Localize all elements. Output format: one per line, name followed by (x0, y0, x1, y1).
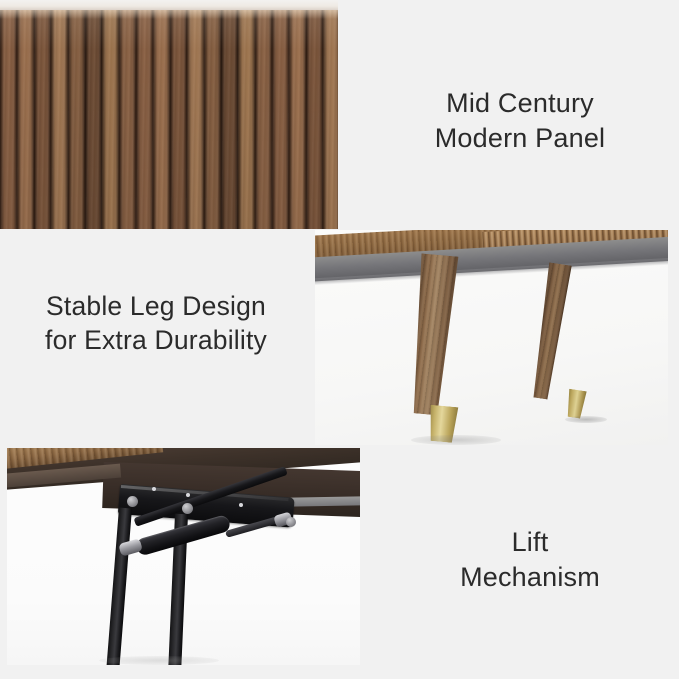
bracket-bolt-3 (286, 517, 296, 527)
rear-tapered-leg (527, 262, 574, 400)
bracket-screw-3 (239, 503, 243, 507)
infographic-canvas: Mid Century Modern Panel Stable Leg Desi… (0, 0, 679, 679)
rear-foot-shadow (565, 416, 607, 423)
rear-brass-foot-cap (563, 388, 589, 419)
table-legs-photo (315, 230, 668, 445)
caption-mid-century-modern-panel: Mid Century Modern Panel (372, 86, 668, 155)
panel-top-highlight (0, 10, 338, 19)
front-foot-shadow (411, 435, 501, 445)
bracket-screw-1 (152, 487, 156, 491)
panel-slats-texture (0, 10, 338, 229)
fluted-wood-panel-photo (0, 0, 338, 229)
mechanism-ground-shadow (99, 656, 219, 665)
caption-stable-leg-design: Stable Leg Design for Extra Durability (6, 290, 306, 358)
bracket-bolt-2 (182, 503, 193, 514)
tabletop-gray-edge (283, 496, 360, 506)
bracket-screw-2 (186, 493, 190, 497)
lift-mechanism-photo (7, 448, 360, 665)
bracket-bolt-1 (127, 496, 138, 507)
mechanism-support-post-left (107, 507, 132, 665)
caption-lift-mechanism: Lift Mechanism (392, 525, 668, 594)
